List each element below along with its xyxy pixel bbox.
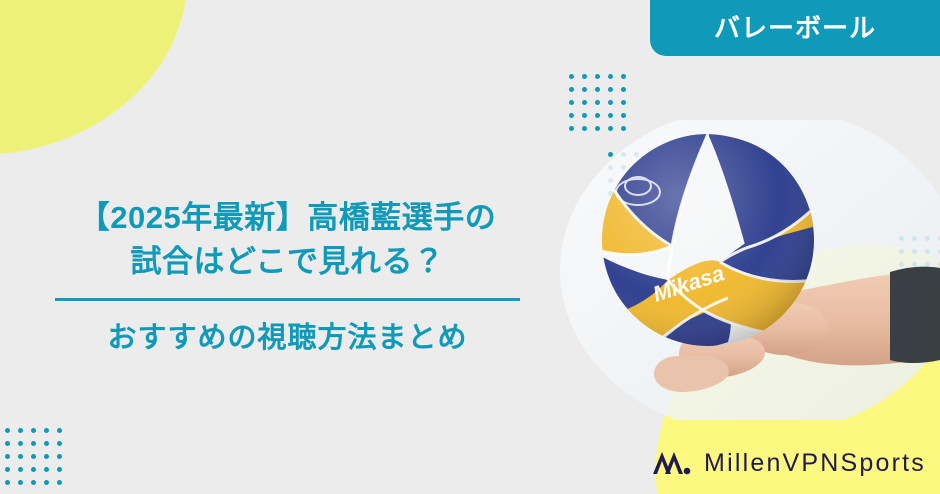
decor-dot xyxy=(44,454,49,459)
decor-dot xyxy=(621,100,626,105)
decor-dot xyxy=(18,480,23,485)
decor-dot xyxy=(569,113,574,118)
decor-dot xyxy=(595,87,600,92)
title-line-2: 試合はどこで見れる？ xyxy=(0,240,575,284)
decor-dot xyxy=(5,480,10,485)
decor-dot xyxy=(18,467,23,472)
decor-dot xyxy=(621,113,626,118)
decor-dot xyxy=(595,100,600,105)
decor-dot xyxy=(608,74,613,79)
title-divider xyxy=(55,298,520,301)
decor-dot xyxy=(5,454,10,459)
decor-dot xyxy=(5,428,10,433)
decor-dot xyxy=(5,441,10,446)
decor-dot xyxy=(18,428,23,433)
decor-dot xyxy=(44,441,49,446)
decor-dot xyxy=(31,467,36,472)
decor-dot-row xyxy=(565,70,630,83)
decor-blob-top-left xyxy=(0,0,209,172)
millen-m-mark-icon xyxy=(651,447,691,480)
thumbnail-canvas: Mikasa バレーボール 【2025年最新】高橋藍選手の 試合はどこで見れる？… xyxy=(0,0,940,494)
decor-dot xyxy=(595,74,600,79)
decor-dot xyxy=(44,467,49,472)
decor-dot xyxy=(569,87,574,92)
decor-dot-row xyxy=(0,437,66,450)
headline-block: 【2025年最新】高橋藍選手の 試合はどこで見れる？ おすすめの視聴方法まとめ xyxy=(0,196,575,359)
title-line-1: 【2025年最新】高橋藍選手の xyxy=(0,196,575,240)
decor-dot xyxy=(595,113,600,118)
decor-dot xyxy=(621,87,626,92)
decor-dot xyxy=(621,74,626,79)
decor-dot xyxy=(44,428,49,433)
decor-dot xyxy=(582,74,587,79)
decor-dot-row xyxy=(565,96,630,109)
decor-dot xyxy=(57,454,62,459)
decor-dot-row xyxy=(0,476,66,489)
decor-dot xyxy=(608,100,613,105)
decor-dot xyxy=(31,480,36,485)
decor-dot xyxy=(569,74,574,79)
decor-dot xyxy=(31,454,36,459)
decor-dot xyxy=(18,441,23,446)
decor-dot xyxy=(57,480,62,485)
decor-dot-grid-bottom-left xyxy=(0,424,66,489)
decor-dot xyxy=(5,467,10,472)
decor-dot xyxy=(582,87,587,92)
decor-dot xyxy=(18,454,23,459)
brand-logo: MillenVPNSports xyxy=(651,447,926,480)
brand-logo-text: MillenVPNSports xyxy=(704,451,926,476)
volleyball-in-hand-photo: Mikasa xyxy=(560,120,940,420)
decor-dot-row xyxy=(0,424,66,437)
decor-dot-row xyxy=(0,450,66,463)
decor-dot xyxy=(582,100,587,105)
decor-dot xyxy=(608,113,613,118)
decor-dot xyxy=(31,441,36,446)
decor-dot-row xyxy=(565,83,630,96)
decor-dot xyxy=(44,480,49,485)
category-badge-label: バレーボール xyxy=(714,15,876,41)
decor-dot xyxy=(569,100,574,105)
category-badge: バレーボール xyxy=(650,0,940,56)
subtitle-line: おすすめの視聴方法まとめ xyxy=(0,318,575,359)
decor-dot xyxy=(608,87,613,92)
decor-dot xyxy=(57,428,62,433)
decor-dot xyxy=(57,441,62,446)
decor-dot-row xyxy=(0,463,66,476)
decor-dot xyxy=(57,467,62,472)
decor-dot xyxy=(582,113,587,118)
decor-dot xyxy=(31,428,36,433)
